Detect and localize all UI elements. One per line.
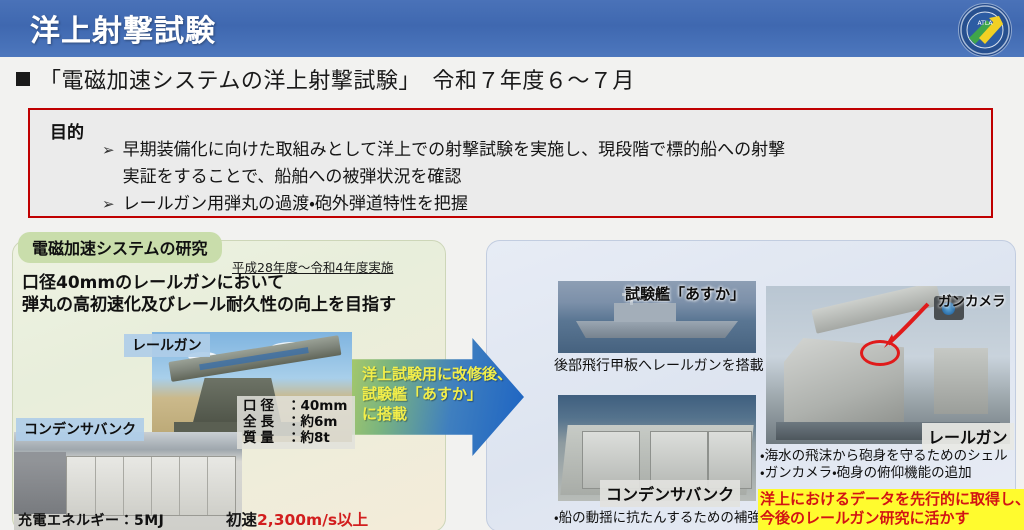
- svg-text:ATLA: ATLA: [978, 20, 994, 27]
- gun-camera-label: ガンカメラ: [938, 290, 1006, 310]
- spec-key: 口径: [243, 398, 287, 414]
- page-title: 洋上射撃試験: [30, 6, 216, 50]
- research-panel-tab: 電磁加速システムの研究: [18, 232, 222, 263]
- objective-title: 目的: [50, 118, 84, 143]
- transition-arrow-text: 洋上試験用に改修後、 試験艦「あすか」 に搭載: [362, 364, 512, 424]
- container-rib: [123, 457, 124, 515]
- objective-item-text: レールガン用弾丸の過渡・砲外弾道特性を把握: [123, 192, 468, 217]
- highlight-line2: 今後のレールガン研究に活かす: [760, 509, 1024, 528]
- spec-value: ：約6m: [287, 414, 337, 430]
- arrow-bullet-icon: ➢: [102, 138, 115, 163]
- ship-superstructure-shape: [614, 303, 676, 322]
- spec-key: 質量: [243, 430, 287, 446]
- condenser-bank-label-left: コンデンサバンク: [16, 418, 144, 441]
- bullet-item: ・ガンカメラ・砲身の俯仰機能の追加: [760, 465, 1008, 482]
- gun-camera-pointer-arrow-icon: [880, 300, 932, 348]
- container-rib: [207, 457, 208, 515]
- bullet-item: ・海水の飛沫から砲身を守るためのシェル: [760, 448, 1008, 465]
- railgun-label-right: レールガン: [922, 423, 1014, 450]
- arrow-line2: 試験艦「あすか」: [362, 384, 512, 404]
- muzzle-velocity-key: 初速: [226, 511, 257, 529]
- deck-equipment-shape: [14, 452, 66, 514]
- test-ship-caption: 後部飛行甲板へレールガンを搭載: [554, 355, 764, 375]
- container-rib: [179, 457, 180, 515]
- container-shape: [66, 456, 236, 516]
- research-body-line1: 口径40mmのレールガンにおいて: [22, 272, 396, 294]
- objective-item: ➢ レールガン用弾丸の過渡・砲外弾道特性を把握: [102, 192, 979, 217]
- objective-list: ➢ 早期装備化に向けた取組みとして洋上での射撃試験を実施し、現段階で標的船への射…: [102, 138, 979, 219]
- spec-key: 全長: [243, 414, 287, 430]
- objective-box: 目的 ➢ 早期装備化に向けた取組みとして洋上での射撃試験を実施し、現段階で標的船…: [28, 108, 993, 218]
- highlight-callout: 洋上におけるデータを先行的に取得し、 今後のレールガン研究に活かす: [758, 489, 1024, 530]
- muzzle-velocity-value: 2,300m/s以上: [257, 511, 368, 529]
- arrow-line3: に搭載: [362, 404, 512, 424]
- spec-value: ：約8t: [287, 430, 330, 446]
- spec-row: 口径 ：40mm: [243, 398, 347, 414]
- container-rib: [95, 457, 96, 515]
- arrow-line1: 洋上試験用に改修後、: [362, 364, 512, 384]
- mount-pedestal-shape: [934, 348, 988, 414]
- railgun-photo-label: レールガン: [124, 334, 210, 357]
- spec-value: ：40mm: [287, 398, 347, 414]
- railgun-spec-box: 口径 ：40mm 全長 ：約6m 質量 ：約8t: [237, 396, 355, 449]
- square-bullet-icon: [16, 72, 30, 86]
- slide-root: 洋上射撃試験 ATLA 「電磁加速システムの洋上射撃試験」 令和７年度６～７月 …: [0, 0, 1024, 530]
- arrow-bullet-icon: ➢: [102, 192, 115, 217]
- sea-trial-bullets: ・海水の飛沫から砲身を守るためのシェル ・ガンカメラ・砲身の俯仰機能の追加: [760, 448, 1008, 482]
- charge-energy-label: 充電エネルギー：5MJ: [18, 510, 164, 530]
- condenser-bank-caption: ・船の動揺に抗たんするための補強: [554, 506, 761, 526]
- objective-item-continuation: ➢ 実証をすることで、船舶への被弾状況を確認: [102, 165, 979, 190]
- muzzle-velocity-label: 初速2,300m/s以上: [226, 508, 368, 530]
- atla-logo-icon: ATLA: [958, 3, 1012, 57]
- ship-hull-shape: [576, 321, 738, 338]
- test-ship-label: 試験艦「あすか」: [625, 283, 745, 304]
- barrel-stripe-shape: [199, 347, 309, 370]
- subheading: 「電磁加速システムの洋上射撃試験」 令和７年度６～７月: [16, 63, 635, 95]
- condenser-bank-label-right: コンデンサバンク: [600, 480, 740, 507]
- objective-item-text: 実証をすることで、船舶への被弾状況を確認: [123, 165, 462, 190]
- highlight-line1: 洋上におけるデータを先行的に取得し、: [760, 490, 1024, 509]
- spec-row: 全長 ：約6m: [243, 414, 347, 430]
- research-body-text: 口径40mmのレールガンにおいて 弾丸の高初速化及びレール耐久性の向上を目指す: [22, 272, 396, 316]
- subheading-text: 「電磁加速システムの洋上射撃試験」 令和７年度６～７月: [39, 63, 635, 95]
- research-body-line2: 弾丸の高初速化及びレール耐久性の向上を目指す: [22, 294, 396, 316]
- objective-item-text: 早期装備化に向けた取組みとして洋上での射撃試験を実施し、現段階で標的船への射撃: [123, 138, 786, 163]
- spec-row: 質量 ：約8t: [243, 430, 347, 446]
- container-rib: [151, 457, 152, 515]
- objective-item: ➢ 早期装備化に向けた取組みとして洋上での射撃試験を実施し、現段階で標的船への射…: [102, 138, 979, 163]
